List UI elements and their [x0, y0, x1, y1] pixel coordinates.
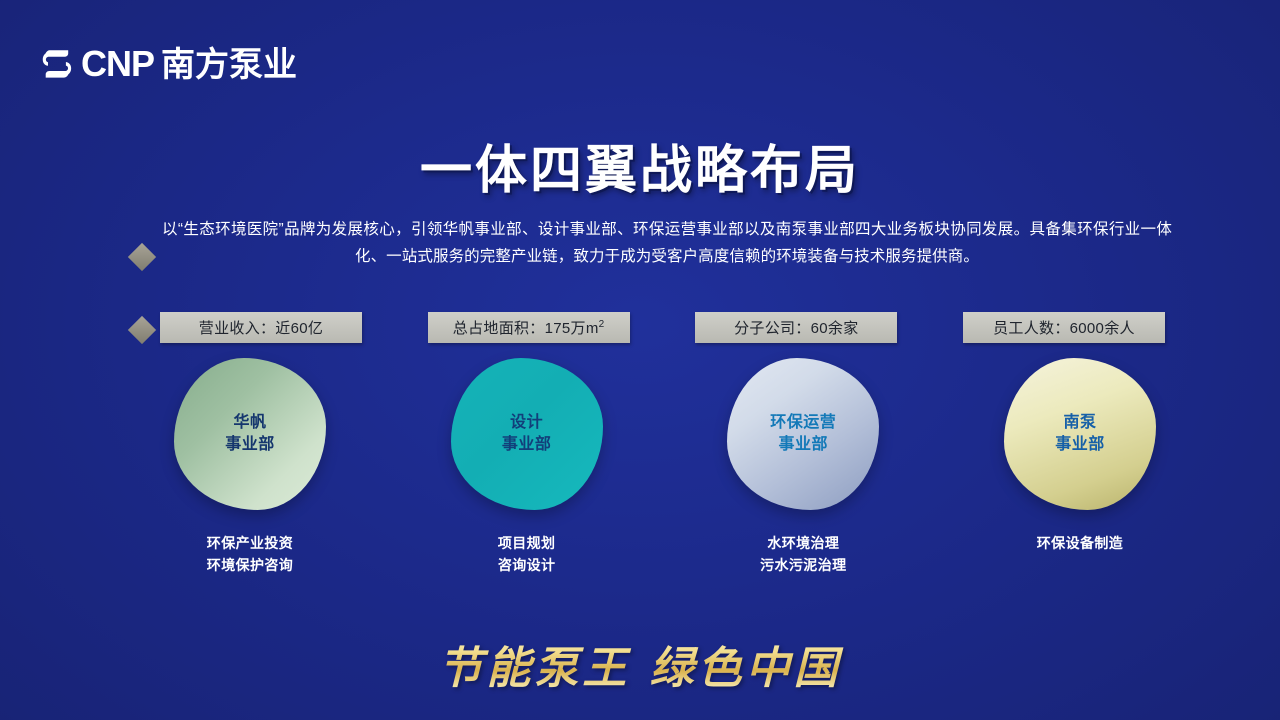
unit-name-line2: 事业部: [1055, 434, 1105, 456]
unit-shape-nanbeng: 南泵 事业部: [1004, 358, 1156, 510]
business-unit-envops: 环保运营 事业部 水环境治理 污水污泥治理: [703, 358, 903, 577]
unit-name-line1: 南泵: [1055, 412, 1105, 434]
status-badge: 营业收入：近60亿: [160, 312, 362, 343]
business-unit-nanbeng: 南泵 事业部 环保设备制造: [980, 358, 1180, 577]
unit-shape-envops: 环保运营 事业部: [727, 358, 879, 510]
unit-name-line1: 环保运营: [770, 412, 836, 434]
stat-badge-row: 营业收入：近60亿 总占地面积：175万m2 分子公司：60余家 员工人数：60…: [160, 312, 1165, 343]
unit-name-line2: 事业部: [770, 434, 836, 456]
intro-paragraph: 以“生态环境医院”品牌为发展核心，引领华帆事业部、设计事业部、环保运营事业部以及…: [162, 216, 1172, 270]
slogan-calligraphy: 节能泵王 绿色中国: [0, 632, 1280, 696]
logo-chinese: 南方泵业: [161, 46, 297, 84]
unit-shape-label: 华帆 事业部: [225, 412, 275, 455]
unit-shape-label: 环保运营 事业部: [770, 412, 836, 455]
unit-caption-line1: 环保设备制造: [1037, 532, 1123, 554]
unit-caption-line1: 水环境治理: [760, 532, 846, 554]
business-unit-huafan: 华帆 事业部 环保产业投资 环境保护咨询: [150, 358, 350, 577]
status-badge-superscript: 2: [599, 319, 605, 330]
unit-caption-line2: 污水污泥治理: [760, 554, 846, 576]
page-title: 一体四翼战略布局: [0, 128, 1280, 203]
diamond-bullet-icon-stats: [128, 316, 156, 344]
status-badge: 员工人数：6000余人: [963, 312, 1165, 343]
unit-caption-line1: 项目规划: [498, 532, 556, 554]
logo-abbr: CNP: [81, 43, 154, 84]
unit-name-line2: 事业部: [225, 434, 275, 456]
unit-caption-line2: 咨询设计: [498, 554, 556, 576]
unit-shape-label: 设计 事业部: [502, 412, 552, 455]
brand-logo: CNP南方泵业: [42, 46, 297, 82]
unit-caption: 环保设备制造: [1037, 532, 1123, 554]
unit-caption: 环保产业投资 环境保护咨询: [207, 532, 293, 577]
unit-shape-label: 南泵 事业部: [1055, 412, 1105, 455]
unit-caption-line1: 环保产业投资: [207, 532, 293, 554]
slide-canvas: CNP南方泵业 一体四翼战略布局 以“生态环境医院”品牌为发展核心，引领华帆事业…: [0, 0, 1280, 720]
status-badge: 分子公司：60余家: [695, 312, 897, 343]
unit-name-line1: 设计: [502, 412, 552, 434]
unit-caption: 水环境治理 污水污泥治理: [760, 532, 846, 577]
unit-name-line1: 华帆: [225, 412, 275, 434]
cnp-monogram-icon: [42, 48, 72, 80]
status-badge: 总占地面积：175万m2: [428, 312, 630, 343]
unit-shape-design: 设计 事业部: [451, 358, 603, 510]
diamond-bullet-icon-intro: [128, 243, 156, 271]
status-badge-text: 总占地面积：175万m: [453, 320, 599, 337]
unit-caption-line2: 环境保护咨询: [207, 554, 293, 576]
business-unit-design: 设计 事业部 项目规划 咨询设计: [427, 358, 627, 577]
unit-caption: 项目规划 咨询设计: [498, 532, 556, 577]
business-unit-row: 华帆 事业部 环保产业投资 环境保护咨询 设计 事业部 项目规划 咨询设计: [150, 358, 1180, 577]
logo-text: CNP南方泵业: [81, 46, 297, 82]
unit-name-line2: 事业部: [502, 434, 552, 456]
unit-shape-huafan: 华帆 事业部: [174, 358, 326, 510]
